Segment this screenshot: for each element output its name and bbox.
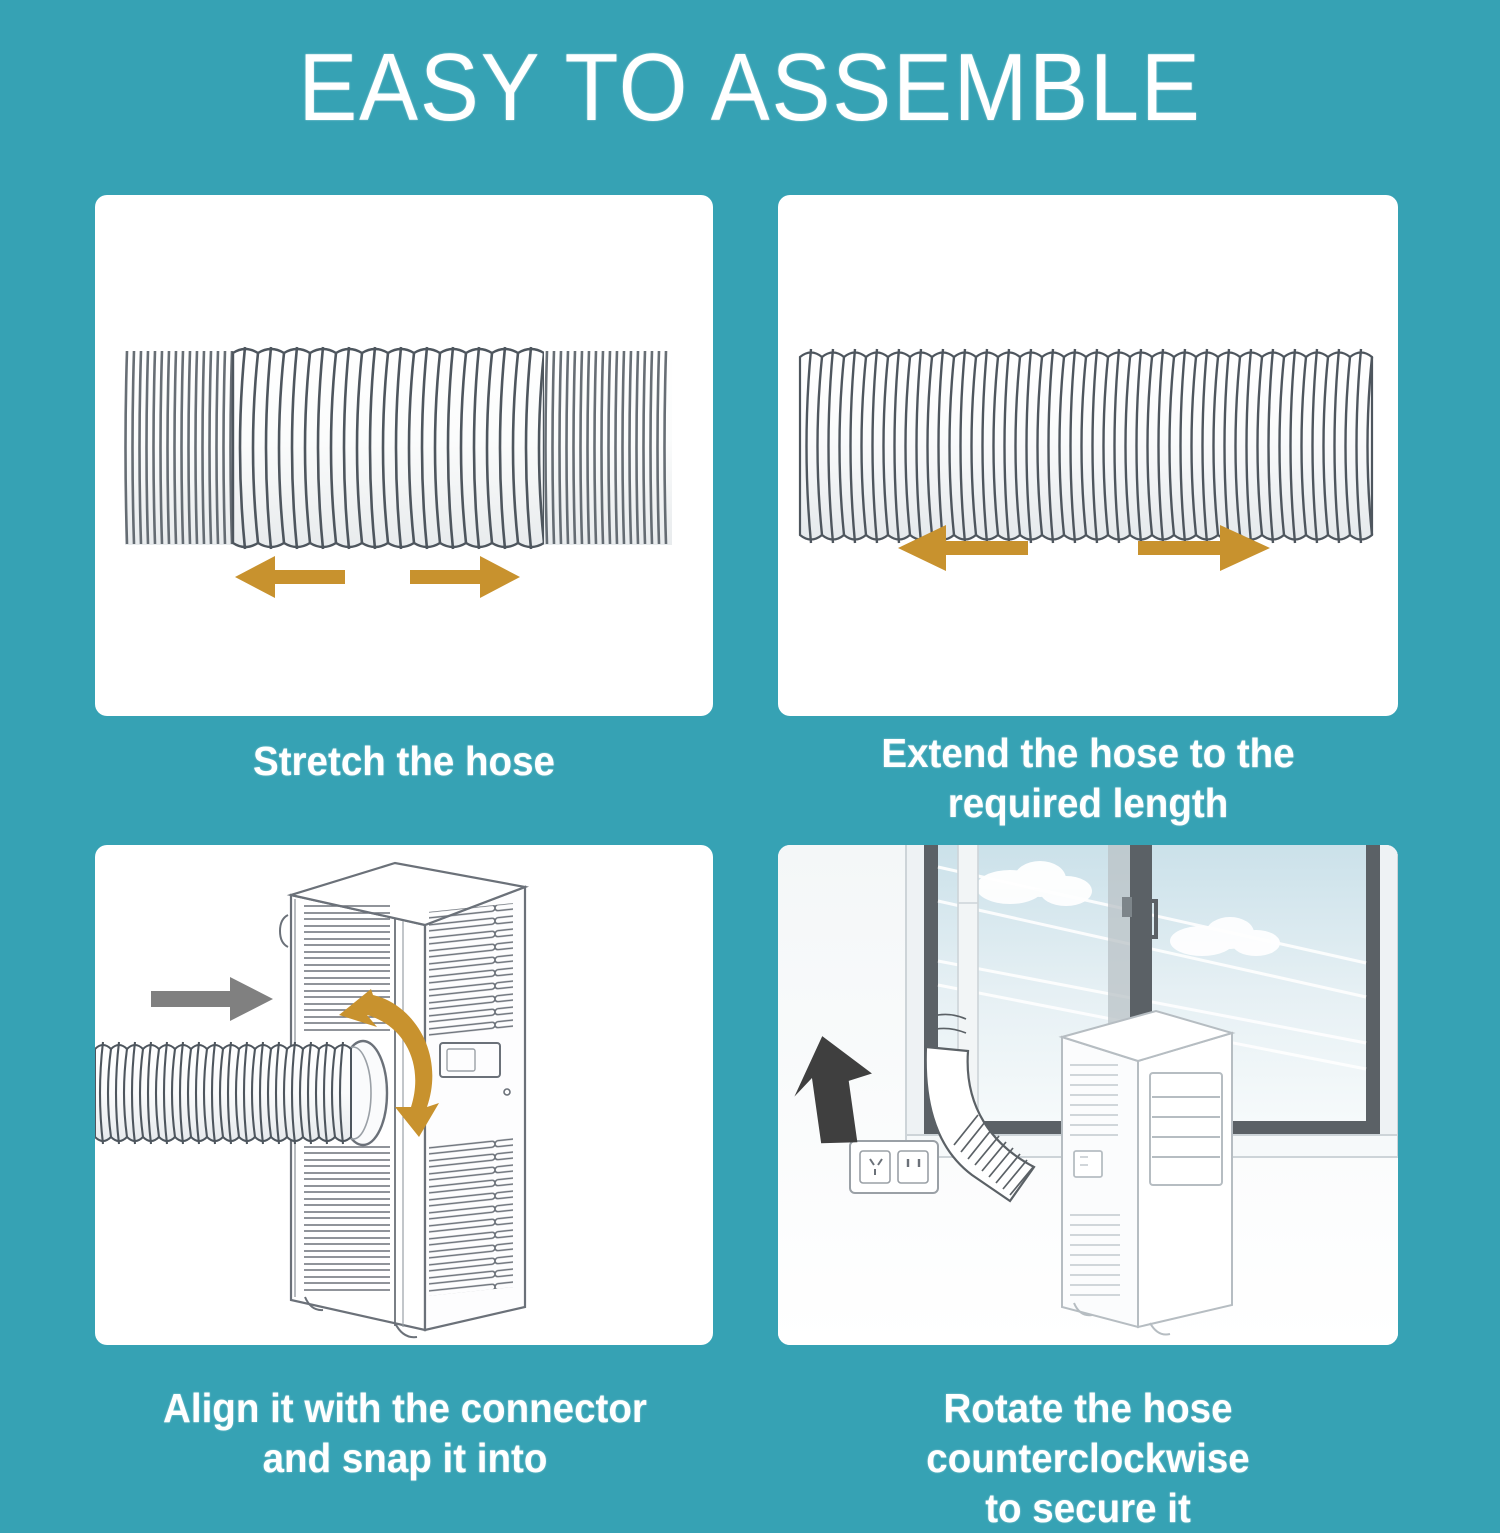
grille-lower-right	[429, 1137, 513, 1296]
hose-compressed-right	[544, 350, 672, 545]
extend-hose-illustration	[778, 195, 1398, 716]
step-caption-4: Rotate the hose counterclockwise to secu…	[787, 1383, 1389, 1533]
grille-upper-right	[429, 903, 513, 1037]
step-caption-1: Stretch the hose	[114, 736, 695, 786]
ac-connector-illustration	[95, 845, 713, 1345]
wall-outlet-icon	[850, 1141, 938, 1193]
step-card-2	[778, 195, 1398, 716]
stretch-arrow-left-icon	[235, 556, 345, 598]
hose-compressed-left	[125, 350, 233, 545]
step-caption-3: Align it with the connector and snap it …	[104, 1383, 706, 1483]
hose-fully-extended	[800, 349, 1372, 543]
hose-stretched-middle	[233, 347, 544, 549]
insert-arrow-icon	[151, 977, 273, 1021]
caption-line: Stretch the hose	[114, 736, 695, 786]
ac-at-window-illustration	[778, 845, 1398, 1345]
caption-line: Extend the hose to the	[789, 728, 1387, 778]
caption-line: and snap it into	[104, 1433, 706, 1483]
caption-line: required length	[789, 778, 1387, 828]
step-card-3	[95, 845, 713, 1345]
caption-line: to secure it	[787, 1483, 1389, 1533]
page-title: EASY TO ASSEMBLE	[60, 38, 1440, 138]
step-card-1	[95, 195, 713, 716]
caption-line: Rotate the hose counterclockwise	[787, 1383, 1389, 1483]
control-panel	[1074, 1151, 1102, 1177]
stretch-hose-illustration	[95, 195, 713, 716]
step-card-4	[778, 845, 1398, 1345]
window-latch-icon	[1122, 897, 1132, 917]
stretch-arrow-right-icon	[410, 556, 520, 598]
exhaust-hose	[95, 1042, 351, 1144]
caption-line: Align it with the connector	[104, 1383, 706, 1433]
step-caption-2: Extend the hose to the required length	[789, 728, 1387, 828]
portable-ac-unit	[1062, 1011, 1232, 1335]
grille-lower-left	[304, 1141, 390, 1293]
